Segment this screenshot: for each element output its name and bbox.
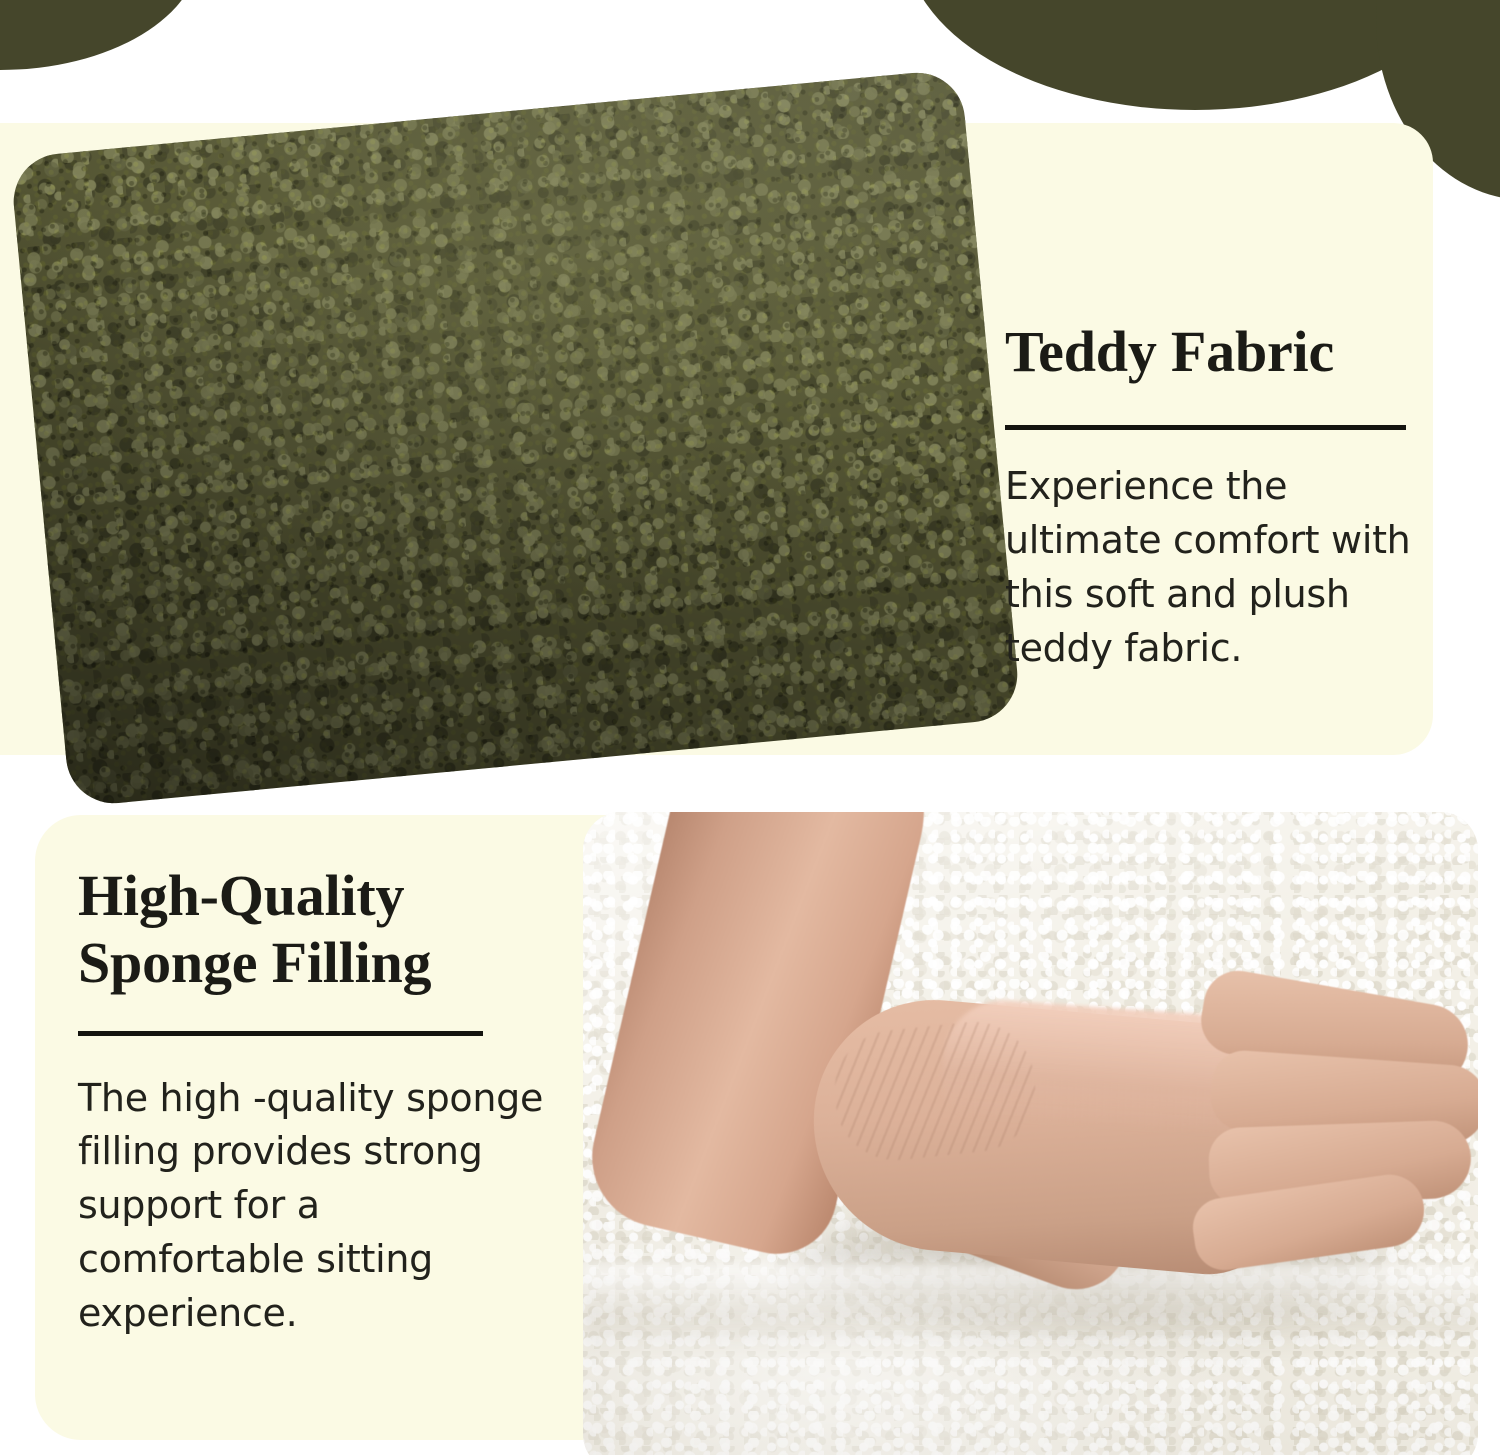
sponge-filling-title: High-Quality Sponge Filling [78,862,548,997]
teddy-fabric-divider [1005,425,1406,430]
teddy-fabric-content: Teddy Fabric Experience the ultimate com… [1005,318,1425,676]
teddy-fabric-shading [9,69,1021,808]
teddy-fabric-title: Teddy Fabric [1005,318,1425,385]
sponge-filling-description: The high -quality sponge filling provide… [78,1072,548,1342]
teddy-fabric-description: Experience the ultimate comfort with thi… [1005,460,1435,676]
sponge-filling-photo [583,812,1478,1455]
cushion-front-edge [583,1264,1478,1354]
teddy-fabric-photo [9,69,1021,808]
product-feature-infographic: Teddy Fabric Experience the ultimate com… [0,0,1500,1455]
sponge-filling-content: High-Quality Sponge Filling The high -qu… [78,862,548,1341]
sponge-filling-divider [78,1031,483,1036]
olive-blob-top-left [0,0,200,70]
